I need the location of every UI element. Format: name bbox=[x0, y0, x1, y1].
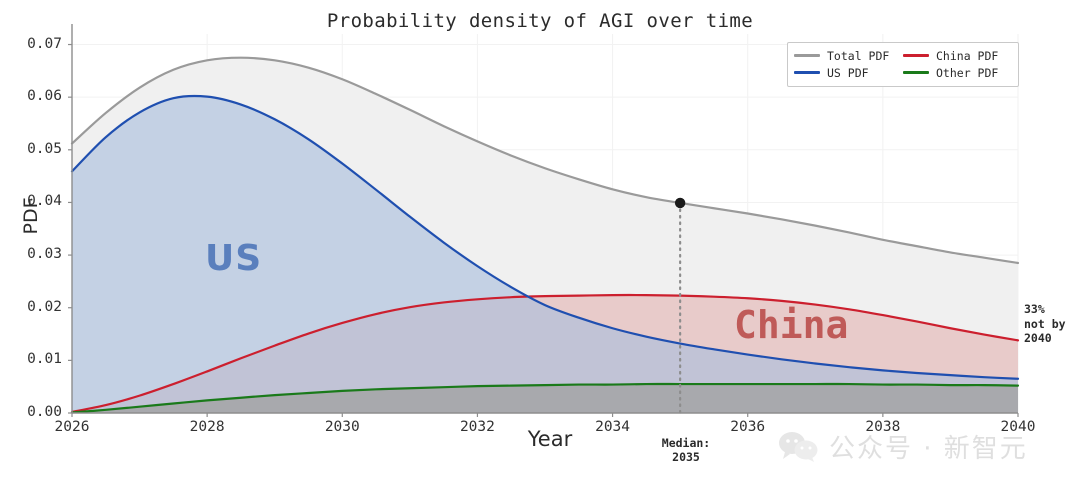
legend-item-total-pdf[interactable]: Total PDF bbox=[794, 49, 903, 63]
x-tick-label: 2030 bbox=[297, 419, 387, 435]
median-annotation-line2: 2035 bbox=[640, 450, 732, 464]
x-tick-label: 2040 bbox=[973, 419, 1063, 435]
x-tick-label: 2026 bbox=[27, 419, 117, 435]
y-tick-label: 0.00 bbox=[4, 404, 62, 420]
x-tick-label: 2038 bbox=[838, 419, 928, 435]
region-label-china: China bbox=[734, 303, 848, 347]
legend-item-china-pdf[interactable]: China PDF bbox=[903, 49, 1012, 63]
x-tick-label: 2036 bbox=[703, 419, 793, 435]
chart-figure: Probability density of AGI over time PDF… bbox=[0, 0, 1080, 479]
y-tick-label: 0.03 bbox=[4, 246, 62, 262]
chart-legend[interactable]: Total PDF China PDF US PDF Other PDF bbox=[787, 42, 1019, 87]
legend-item-other-pdf[interactable]: Other PDF bbox=[903, 66, 1012, 80]
legend-row: Total PDF China PDF bbox=[794, 47, 1012, 64]
y-tick-label: 0.07 bbox=[4, 36, 62, 52]
legend-label-total-pdf: Total PDF bbox=[827, 49, 889, 63]
x-tick-label: 2032 bbox=[432, 419, 522, 435]
y-tick-label: 0.02 bbox=[4, 299, 62, 315]
y-tick-label: 0.05 bbox=[4, 141, 62, 157]
tail-annotation-line3: 2040 bbox=[1024, 331, 1080, 346]
tail-annotation-line1: 33% bbox=[1024, 302, 1080, 317]
legend-swatch-china-pdf bbox=[903, 54, 929, 57]
legend-label-china-pdf: China PDF bbox=[936, 49, 998, 63]
x-tick-label: 2028 bbox=[162, 419, 252, 435]
legend-swatch-total-pdf bbox=[794, 54, 820, 57]
median-annotation: Median: 2035 bbox=[640, 436, 732, 464]
y-tick-label: 0.06 bbox=[4, 88, 62, 104]
area-fills bbox=[72, 58, 1018, 413]
y-axis-label: PDF bbox=[20, 176, 42, 256]
legend-row: US PDF Other PDF bbox=[794, 64, 1012, 81]
y-tick-label: 0.01 bbox=[4, 351, 62, 367]
tail-probability-annotation: 33% not by 2040 bbox=[1024, 302, 1080, 346]
median-annotation-line1: Median: bbox=[640, 436, 732, 450]
legend-item-us-pdf[interactable]: US PDF bbox=[794, 66, 903, 80]
legend-label-other-pdf: Other PDF bbox=[936, 66, 998, 80]
legend-swatch-other-pdf bbox=[903, 71, 929, 74]
x-tick-label: 2034 bbox=[568, 419, 658, 435]
tail-annotation-line2: not by bbox=[1024, 317, 1080, 332]
legend-swatch-us-pdf bbox=[794, 71, 820, 74]
median-dot-marker bbox=[675, 198, 685, 208]
region-label-us: US bbox=[205, 238, 262, 279]
y-tick-label: 0.04 bbox=[4, 193, 62, 209]
legend-label-us-pdf: US PDF bbox=[827, 66, 869, 80]
